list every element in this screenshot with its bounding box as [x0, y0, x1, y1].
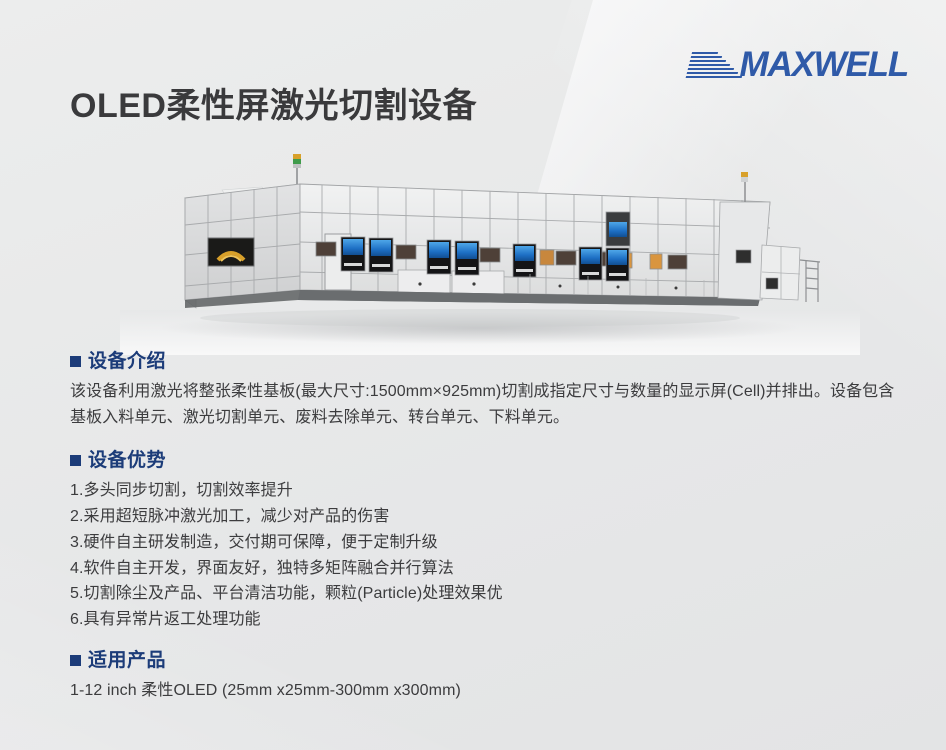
machine-illustration	[0, 150, 946, 355]
square-bullet-icon	[70, 455, 81, 466]
signal-tower-light-right	[741, 172, 748, 202]
list-item: 2.采用超短脉冲激光加工，减少对产品的伤害	[70, 504, 910, 530]
section-products: 适用产品 1-12 inch 柔性OLED (25mm x25mm-300mm …	[70, 651, 910, 704]
section-intro-title: 设备介绍	[88, 352, 166, 371]
section-intro-paragraph: 该设备利用激光将整张柔性基板(最大尺寸:1500mm×925mm)切割成指定尺寸…	[70, 379, 906, 431]
list-item: 5.切割除尘及产品、平台清洁功能，颗粒(Particle)处理效果优	[70, 581, 910, 607]
list-item: 3.硬件自主研发制造，交付期可保障，便于定制升级	[70, 530, 910, 556]
section-products-title: 适用产品	[88, 651, 166, 670]
machine-side-ladder	[800, 260, 820, 302]
section-advantages-header: 设备优势	[70, 451, 910, 470]
list-item: 4.软件自主开发，界面友好，独特多矩阵融合并行算法	[70, 556, 910, 582]
spacer-advantages-products	[70, 635, 910, 651]
square-bullet-icon	[70, 655, 81, 666]
logo-speed-lines-icon	[686, 51, 749, 78]
machine-viewing-window	[208, 238, 254, 266]
signal-tower-light-left	[293, 154, 301, 184]
list-item: 1.多头同步切割，切割效率提升	[70, 478, 910, 504]
spacer-intro-advantages	[70, 433, 910, 451]
page-title: OLED柔性屏激光切割设备	[70, 78, 477, 127]
logo-wordmark: MAXWELL	[739, 47, 908, 82]
maxwell-logo: MAXWELL	[689, 44, 908, 84]
section-products-text: 1-12 inch 柔性OLED (25mm x25mm-300mm x300m…	[70, 678, 906, 704]
square-bullet-icon	[70, 356, 81, 367]
section-advantages-title: 设备优势	[88, 451, 166, 470]
section-intro-header: 设备介绍	[70, 352, 910, 371]
content-area: 设备介绍 该设备利用激光将整张柔性基板(最大尺寸:1500mm×925mm)切割…	[70, 352, 910, 706]
advantages-list: 1.多头同步切割，切割效率提升 2.采用超短脉冲激光加工，减少对产品的伤害 3.…	[70, 478, 910, 633]
section-products-header: 适用产品	[70, 651, 910, 670]
section-intro: 设备介绍 该设备利用激光将整张柔性基板(最大尺寸:1500mm×925mm)切割…	[70, 352, 910, 431]
section-advantages: 设备优势 1.多头同步切割，切割效率提升 2.采用超短脉冲激光加工，减少对产品的…	[70, 451, 910, 633]
list-item: 6.具有异常片返工处理功能	[70, 607, 910, 633]
machine-render-svg	[0, 150, 946, 355]
slide-page: MAXWELL OLED柔性屏激光切割设备	[0, 0, 946, 750]
